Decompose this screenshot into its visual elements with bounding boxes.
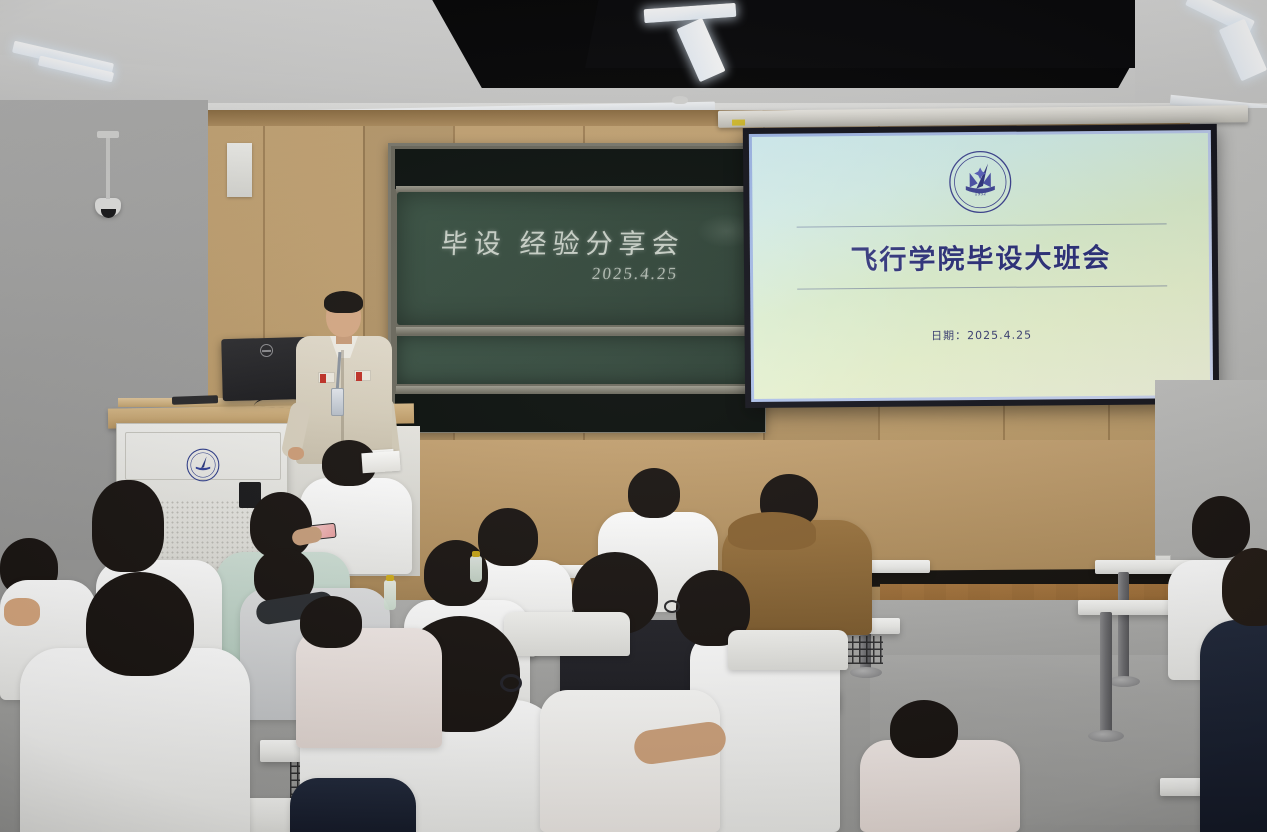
student-hood: [728, 512, 816, 550]
presenter-hair: [324, 291, 363, 313]
papers-held: [361, 451, 400, 474]
student-head: [86, 572, 194, 676]
blackboard-rail-middle: [396, 327, 764, 334]
projection-screen: 1952 飞行学院毕设大班会 日期：2025.4.25: [743, 124, 1219, 408]
slide-title: 飞行学院毕设大班会: [753, 235, 1209, 278]
blackboard-rail-bottom: [396, 386, 764, 393]
desk-foot: [850, 667, 882, 678]
classroom-photo: 毕设 经验分享会 2025.4.25 1952 飞行学院毕设大班会: [0, 0, 1267, 832]
blackboard-date-text: 2025.4.25: [591, 264, 679, 284]
blackboard-lower-panel: [397, 336, 763, 384]
blackboard-upper-recess: [395, 149, 765, 189]
desk-foot: [1088, 730, 1124, 742]
keyboard: [172, 395, 218, 405]
slide-rule-top: [797, 223, 1167, 227]
svg-text:1952: 1952: [974, 191, 986, 197]
podium-university-emblem-icon: [185, 447, 221, 483]
blackboard-lower-recess: [395, 394, 765, 432]
student-glasses-icon: [500, 674, 522, 692]
student-head: [300, 596, 362, 648]
water-bottle: [384, 580, 396, 610]
student-torso: [540, 690, 720, 832]
water-bottle: [470, 556, 482, 582]
blackboard-writing-surface: 毕设 经验分享会 2025.4.25: [397, 192, 763, 325]
presenter-id-card: [331, 388, 344, 416]
blackboard-title-text: 毕设 经验分享会: [440, 222, 686, 261]
student-head: [628, 468, 680, 518]
student-head: [92, 480, 164, 572]
dome-camera-ceiling-plate: [97, 131, 119, 138]
monitor-brand-icon: [260, 344, 273, 357]
presenter-hand: [288, 447, 304, 460]
smoke-detector-icon: [672, 96, 688, 104]
university-emblem-icon: 1952: [947, 149, 1014, 216]
blackboard: 毕设 经验分享会 2025.4.25: [388, 143, 766, 433]
chair-back: [504, 612, 630, 656]
student-head: [478, 508, 538, 566]
presenter-badge-left: [318, 372, 335, 383]
desk-leg: [1100, 612, 1112, 734]
wall-poster: [227, 143, 252, 197]
podium-front-panel: [125, 432, 281, 480]
desk-leg: [1118, 572, 1129, 680]
presentation-slide: 1952 飞行学院毕设大班会 日期：2025.4.25: [752, 133, 1210, 399]
slide-date: 日期：2025.4.25: [754, 325, 1210, 345]
student-torso: [1200, 620, 1267, 832]
student-torso: [290, 778, 416, 832]
housing-label-tab: [732, 119, 745, 125]
student-head: [890, 700, 958, 758]
presenter-badge-right: [354, 370, 371, 381]
dome-camera-mount: [106, 137, 110, 199]
student-hand: [4, 598, 40, 626]
student-glasses-icon: [664, 600, 680, 613]
slide-rule-bottom: [797, 285, 1167, 289]
desk-foot: [1108, 676, 1140, 687]
student-head: [1192, 496, 1250, 558]
chair-back: [728, 630, 848, 670]
